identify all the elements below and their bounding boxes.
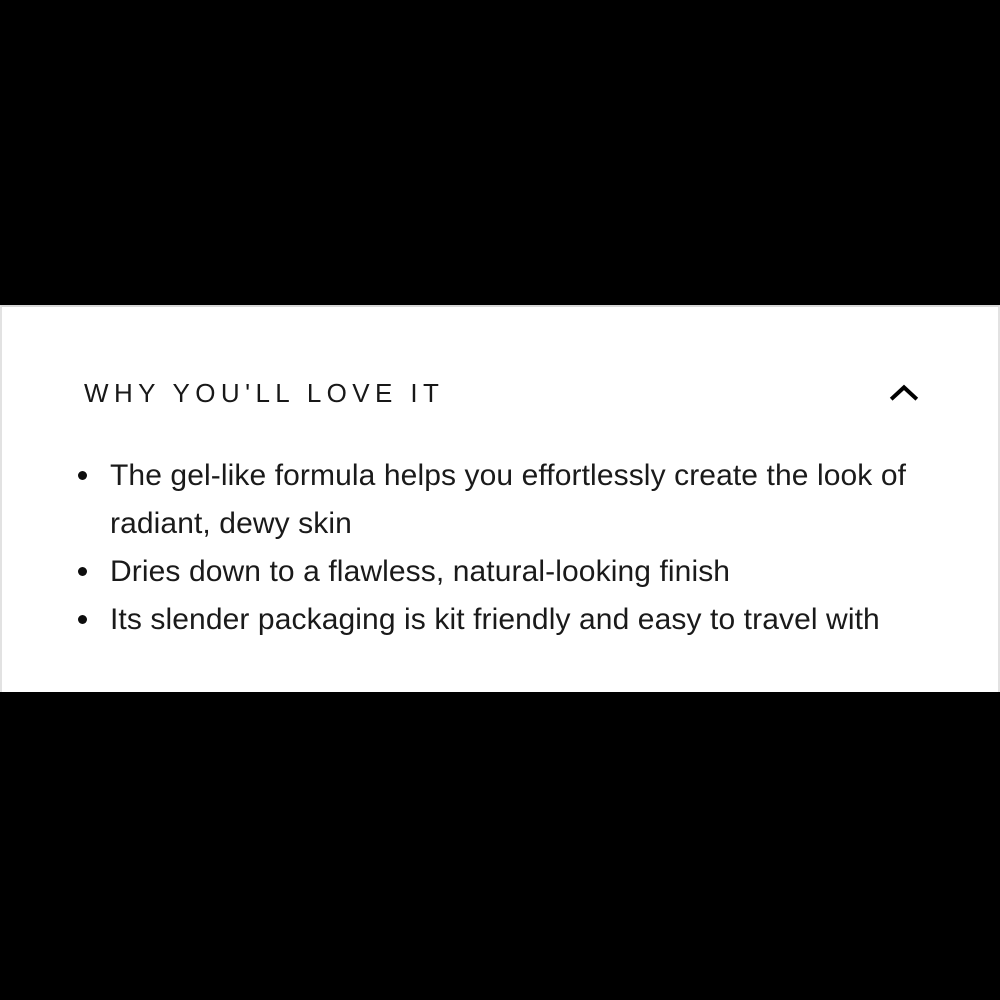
page-title: WHY YOU'LL LOVE IT xyxy=(84,378,444,408)
why-youll-love-it-panel: WHY YOU'LL LOVE IT The gel-like formula … xyxy=(0,305,1000,692)
list-item: The gel-like formula helps you effortles… xyxy=(78,452,938,548)
chevron-up-icon xyxy=(889,384,919,402)
benefits-list: The gel-like formula helps you effortles… xyxy=(78,452,938,644)
list-item-text: The gel-like formula helps you effortles… xyxy=(110,452,922,548)
bullet-dot-icon xyxy=(78,567,87,576)
bullet-dot-icon xyxy=(78,471,87,480)
screen: WHY YOU'LL LOVE IT The gel-like formula … xyxy=(0,0,1000,1000)
list-item: Its slender packaging is kit friendly an… xyxy=(78,596,938,644)
list-item: Dries down to a flawless, natural-lookin… xyxy=(78,548,938,596)
bullet-dot-icon xyxy=(78,615,87,624)
accordion-toggle-button[interactable] xyxy=(884,377,924,409)
accordion-header-why-youll-love-it[interactable]: WHY YOU'LL LOVE IT xyxy=(84,373,924,413)
list-item-text: Dries down to a flawless, natural-lookin… xyxy=(110,548,922,596)
list-item-text: Its slender packaging is kit friendly an… xyxy=(110,596,922,644)
